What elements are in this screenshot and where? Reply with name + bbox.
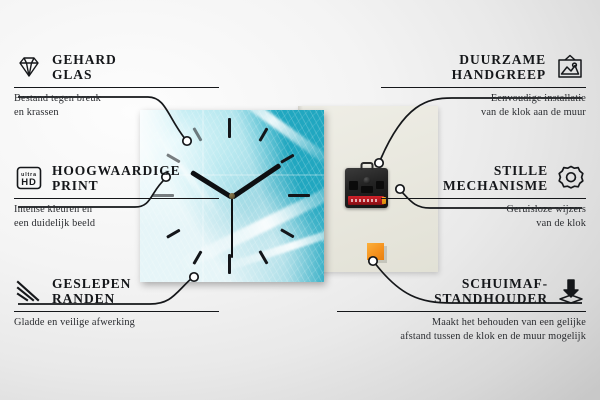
feature-subtitle-line1: Bestand tegen breuk <box>14 92 219 106</box>
feature-subtitle: Intense kleuren en een duidelijk beeld <box>14 203 219 230</box>
feature-heading: DUURZAME HANDGREEP <box>381 52 586 83</box>
mechanism-hanger-icon <box>360 162 373 170</box>
feature-title-line1: STILLE <box>443 163 548 178</box>
feature-duurzame-handgreep: DUURZAME HANDGREEP Eenvoudige installati… <box>381 52 586 120</box>
feature-title-line2: RANDEN <box>52 291 131 306</box>
clock-second-hand <box>231 196 233 258</box>
clock-tick <box>228 118 231 138</box>
feature-title-line2: PRINT <box>52 178 181 193</box>
feature-subtitle-line1: Maakt het behouden van een gelijke <box>337 316 586 330</box>
infographic-stage: GEHARD GLAS Bestand tegen breuk en krass… <box>0 0 600 400</box>
feature-geslepen-randen: GESLEPEN RANDEN Gladde en veilige afwerk… <box>14 276 219 330</box>
feature-stille-mechanisme: STILLE MECHANISME Geruisloze wijzers van… <box>381 163 586 231</box>
foam-spacer <box>367 243 384 260</box>
mechanism-shaft <box>363 177 370 184</box>
feature-title-line2: MECHANISME <box>443 178 548 193</box>
feature-hoogwaardige-print: ultra HD HOOGWAARDIGE PRINT Intense kleu… <box>14 163 219 231</box>
mechanism-slot <box>361 186 373 193</box>
battery-label <box>351 199 378 202</box>
feature-subtitle-line2: en krassen <box>14 106 219 120</box>
feature-title: DUURZAME HANDGREEP <box>452 52 546 83</box>
feature-heading: ultra HD HOOGWAARDIGE PRINT <box>14 163 219 194</box>
feature-divider <box>14 87 219 89</box>
clock-battery <box>348 196 384 205</box>
feature-title-line2: STANDHOUDER <box>434 291 548 306</box>
feature-heading: SCHUIMAF- STANDHOUDER <box>337 276 586 307</box>
feature-subtitle-line2: van de klok aan de muur <box>381 106 586 120</box>
feature-title: STILLE MECHANISME <box>443 163 548 194</box>
feature-subtitle-line1: Gladde en veilige afwerking <box>14 316 219 330</box>
feature-divider <box>337 311 586 313</box>
feature-heading: GEHARD GLAS <box>14 52 219 83</box>
feature-title-line2: GLAS <box>52 67 117 82</box>
feature-title-line1: DUURZAME <box>452 52 546 67</box>
feature-title-line1: HOOGWAARDIGE <box>52 163 181 178</box>
feature-title: HOOGWAARDIGE PRINT <box>52 163 181 194</box>
feature-divider <box>381 198 586 200</box>
feature-divider <box>14 311 219 313</box>
feature-heading: STILLE MECHANISME <box>381 163 586 194</box>
feature-title-line1: GEHARD <box>52 52 117 67</box>
diamond-icon <box>14 55 44 79</box>
feature-divider <box>381 87 586 89</box>
feature-subtitle-line2: van de klok <box>381 217 586 231</box>
feature-subtitle: Eenvoudige installatie van de klok aan d… <box>381 92 586 119</box>
feature-subtitle-line1: Geruisloze wijzers <box>381 203 586 217</box>
feature-title: SCHUIMAF- STANDHOUDER <box>434 276 548 307</box>
feature-title-line1: GESLEPEN <box>52 276 131 291</box>
down-arrow-spacer-icon <box>556 278 586 304</box>
picture-hanger-icon <box>554 54 586 80</box>
feature-subtitle: Gladde en veilige afwerking <box>14 316 219 330</box>
feature-heading: GESLEPEN RANDEN <box>14 276 219 307</box>
feature-subtitle-line1: Eenvoudige installatie <box>381 92 586 106</box>
feature-divider <box>14 198 219 200</box>
feature-subtitle: Maakt het behouden van een gelijke afsta… <box>337 316 586 343</box>
feature-gehard-glas: GEHARD GLAS Bestand tegen breuk en krass… <box>14 52 219 120</box>
clock-tick <box>288 194 310 197</box>
feature-subtitle: Geruisloze wijzers van de klok <box>381 203 586 230</box>
feature-title-line2: HANDGREEP <box>452 67 546 82</box>
feature-subtitle-line2: een duidelijk beeld <box>14 217 219 231</box>
ultra-hd-icon-large-text: HD <box>21 177 37 188</box>
beveled-edges-icon <box>14 279 44 303</box>
feature-schuimafstandhouder: SCHUIMAF- STANDHOUDER Maakt het behouden… <box>337 276 586 344</box>
feature-subtitle: Bestand tegen breuk en krassen <box>14 92 219 119</box>
feature-title: GEHARD GLAS <box>52 52 117 83</box>
feature-subtitle-line1: Intense kleuren en <box>14 203 219 217</box>
gear-icon <box>556 164 586 192</box>
feature-title-line1: SCHUIMAF- <box>434 276 548 291</box>
mechanism-slot <box>349 181 358 190</box>
feature-subtitle-line2: afstand tussen de klok en de muur mogeli… <box>337 330 586 344</box>
clock-hand-cap <box>229 193 235 199</box>
ultra-hd-icon: ultra HD <box>14 165 44 191</box>
feature-title: GESLEPEN RANDEN <box>52 276 131 307</box>
